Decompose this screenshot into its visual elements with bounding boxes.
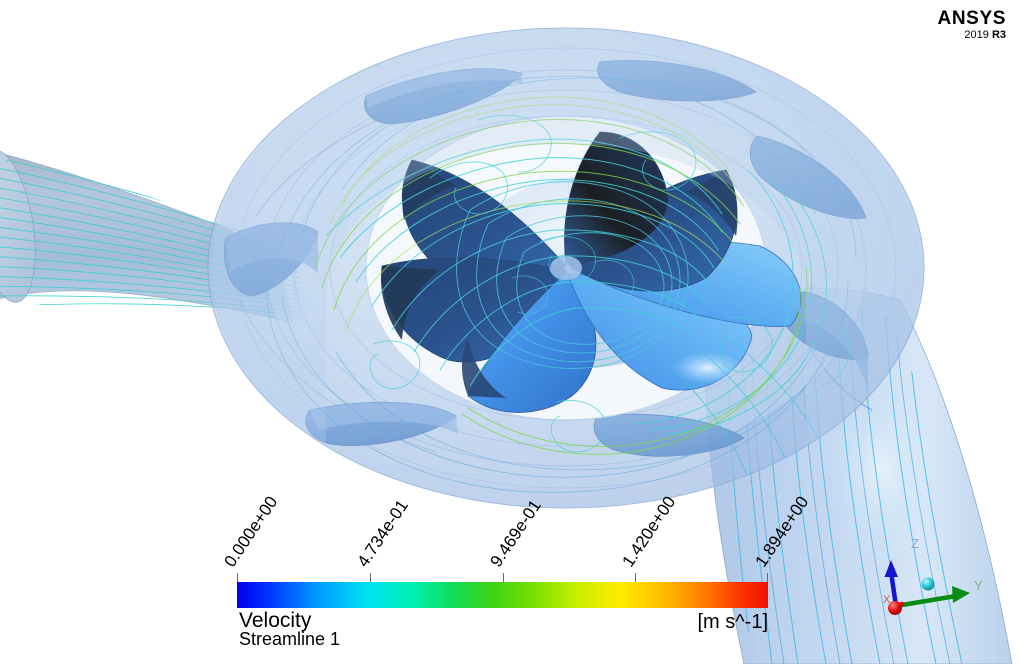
legend-tick bbox=[767, 573, 768, 582]
release-tag: R3 bbox=[992, 29, 1006, 41]
y-axis-arrow bbox=[896, 586, 970, 606]
legend-units: [m s^-1] bbox=[698, 611, 769, 634]
legend-footer: Velocity Streamline 1 [m s^-1] bbox=[237, 608, 768, 652]
release-year: 2019 bbox=[964, 29, 988, 41]
ansys-wordmark: ANSYS bbox=[938, 9, 1006, 29]
cfd-post-viewport[interactable]: ANSYS 2019 R3 0.000e+004.734e-019.469e-0… bbox=[0, 0, 1020, 664]
ansys-logo: ANSYS 2019 R3 bbox=[938, 9, 1006, 41]
ansys-release: 2019 R3 bbox=[938, 30, 1006, 42]
legend-tick bbox=[237, 573, 238, 582]
legend-tick bbox=[635, 573, 636, 582]
legend-tick bbox=[503, 573, 504, 582]
legend-tick-marks bbox=[237, 573, 768, 582]
legend-color-bar[interactable] bbox=[237, 582, 768, 608]
y-axis-label: Y bbox=[974, 578, 983, 593]
casing-front-glass bbox=[208, 28, 924, 508]
z-axis-label: Z bbox=[911, 536, 919, 551]
legend-tick bbox=[370, 573, 371, 582]
legend-variable-name: Velocity bbox=[239, 610, 311, 631]
color-legend[interactable]: 0.000e+004.734e-019.469e-011.420e+001.89… bbox=[237, 582, 768, 652]
3d-render-scene[interactable] bbox=[0, 0, 1020, 664]
x-axis-label: X bbox=[883, 594, 890, 606]
axis-triad[interactable]: Z Y X bbox=[874, 538, 984, 630]
legend-object-name: Streamline 1 bbox=[239, 630, 340, 648]
pivot-marker-icon bbox=[922, 578, 935, 591]
